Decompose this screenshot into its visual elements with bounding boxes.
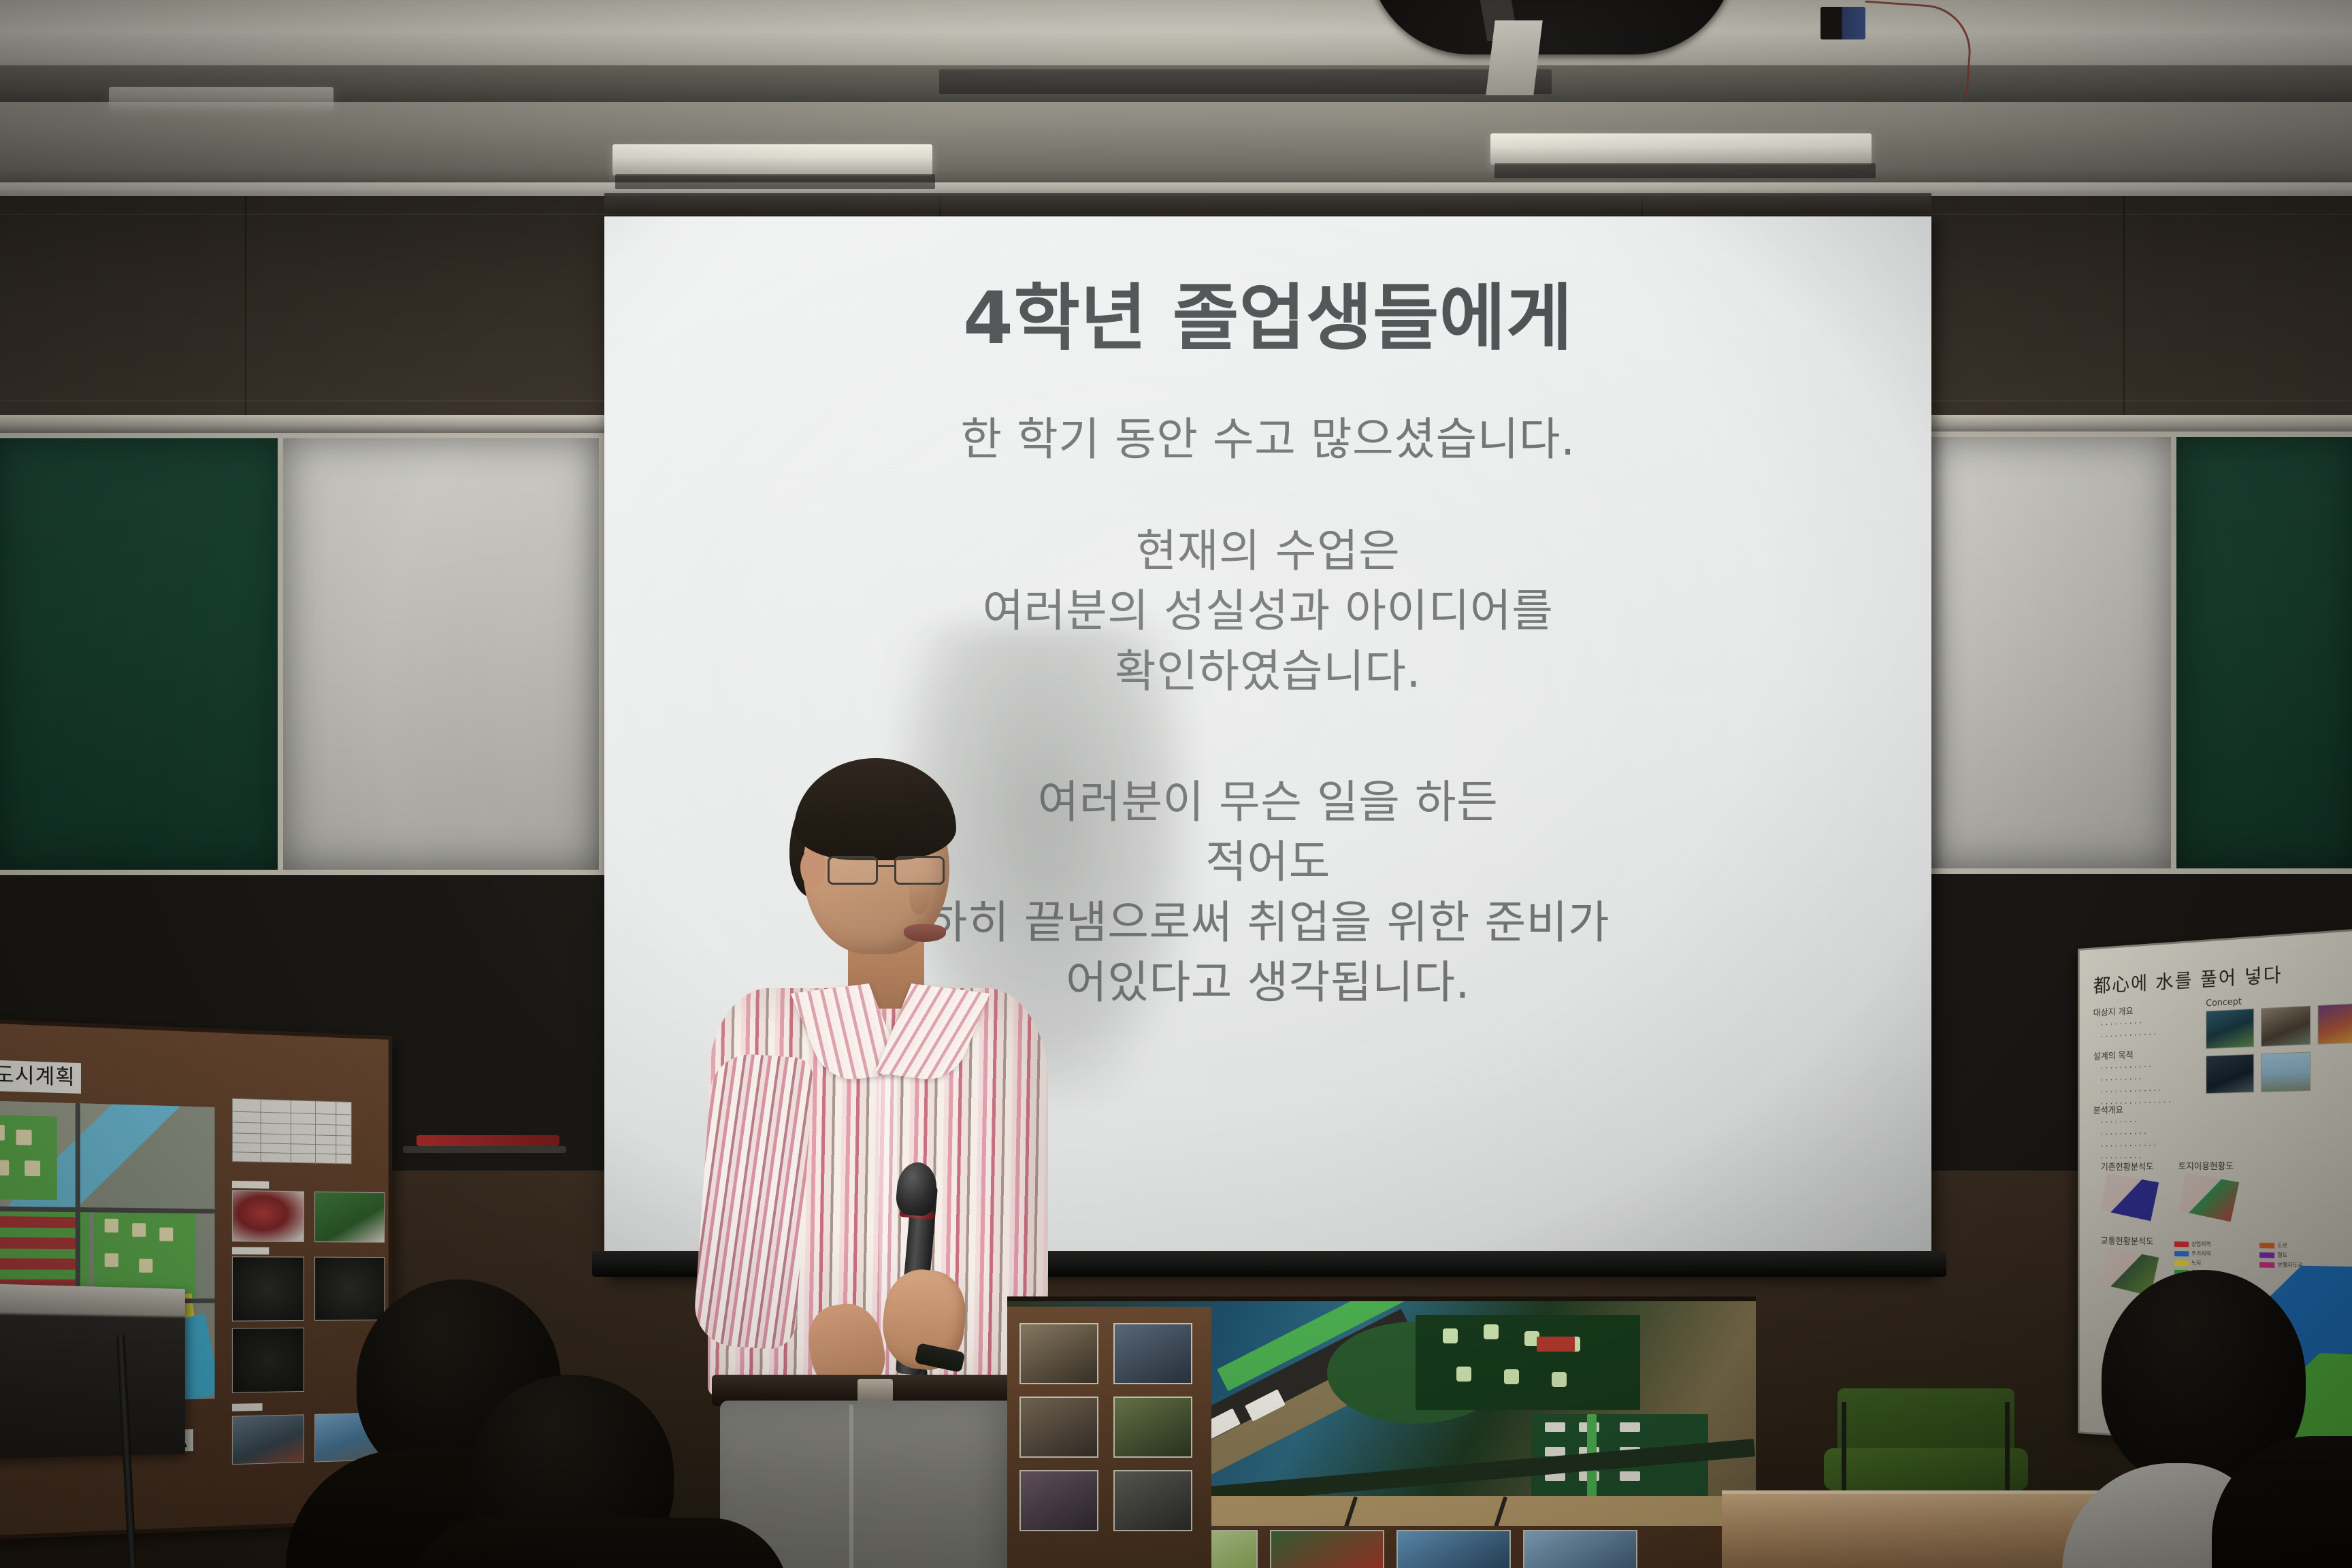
audience-shoulders: [408, 1518, 789, 1568]
legend-item: 철도: [2259, 1251, 2303, 1259]
legend-label: 주거지역: [2191, 1249, 2211, 1257]
screen-housing: [604, 193, 1931, 216]
poster-right-diagram: [2178, 1173, 2239, 1222]
poster-left-photo: [314, 1192, 385, 1243]
lectern: [0, 1284, 185, 1460]
poster-right-section: 교통현황분석도: [2101, 1234, 2154, 1247]
chair-seat: [1824, 1448, 2028, 1490]
glasses-bridge: [878, 865, 896, 867]
board-photo: [1019, 1323, 1098, 1384]
board-photo: [1396, 1530, 1511, 1568]
board-photo: [1113, 1470, 1192, 1531]
legend-swatch: [2259, 1252, 2274, 1258]
slide-line: 현재의 수업은: [983, 521, 1554, 581]
board-photo: [1113, 1396, 1192, 1458]
fluorescent-light: [612, 144, 932, 176]
poster-right-photo: [2206, 1054, 2254, 1094]
presenter-left-arm: [692, 1051, 815, 1350]
poster-right-photo: [2206, 1009, 2254, 1049]
glasses-icon: [828, 856, 951, 886]
presenter-hair: [794, 758, 956, 860]
glasses-lens-left: [828, 856, 878, 885]
legend-swatch: [2174, 1241, 2189, 1247]
board-photo: [1523, 1530, 1637, 1568]
slide-paragraph-1: 한 학기 동안 수고 많으셨습니다.: [960, 409, 1575, 470]
poster-right-section: Concept: [2206, 997, 2242, 1009]
marker-tray: [403, 1146, 566, 1153]
legend-swatch: [2259, 1243, 2274, 1248]
whiteboard-right: [1921, 431, 2179, 874]
legend-item: 도로: [2259, 1241, 2303, 1249]
poster-right-section: 기존현황분석도: [2101, 1160, 2154, 1173]
legend-label: 도로: [2277, 1241, 2287, 1249]
poster-left-title: 도시계획: [0, 1058, 81, 1094]
ceiling-beam: [0, 102, 2352, 191]
poster-left-caption: [232, 1403, 263, 1411]
legend-label: 철도: [2277, 1252, 2287, 1259]
slide-line: 여러분의 성실성과 아이디어를: [983, 581, 1554, 641]
fluorescent-light-shadow: [615, 174, 935, 189]
ceiling-rail: [939, 69, 1552, 94]
poster-right-photo: [2261, 1006, 2310, 1047]
legend-item: 주거지역: [2174, 1249, 2210, 1258]
poster-left-photo: [232, 1414, 304, 1465]
fluorescent-light-shadow: [1494, 163, 1876, 178]
poster-right-title: 都心에 水를 풀어 넣다: [2093, 960, 2283, 998]
desk: [1722, 1490, 2103, 1568]
ceiling-power-outlet: [1820, 7, 1865, 39]
legend-swatch: [2174, 1251, 2189, 1256]
marker-pen: [416, 1135, 559, 1146]
trouser-crease: [849, 1405, 853, 1568]
poster-left-photo: [232, 1190, 304, 1242]
poster-left-photo: [232, 1328, 304, 1393]
poster-right-section: 대상지 개요: [2093, 1004, 2134, 1019]
poster-right-diagram: [2101, 1173, 2159, 1221]
poster-left-data-table: [232, 1098, 352, 1164]
photo-canvas: 4학년 졸업생들에게 한 학기 동안 수고 많으셨습니다. 현재의 수업은 여러…: [0, 0, 2352, 1568]
presenter-mouth: [904, 924, 946, 942]
poster-left-photo: [232, 1256, 304, 1321]
poster-right-photo: [2261, 1051, 2310, 1092]
presenter-ear: [800, 849, 825, 887]
poster-right-section: 설계의 목적: [2093, 1048, 2134, 1062]
poster-right-photo: [2318, 1003, 2352, 1045]
legend-item: 상업지역: [2174, 1240, 2210, 1248]
poster-left-caption: [232, 1181, 269, 1189]
slide-block-2: 현재의 수업은 여러분의 성실성과 아이디어를 확인하였습니다.: [983, 521, 1554, 702]
cork-board-photos: [1007, 1307, 1211, 1568]
poster-right-section: 토지이용현황도: [2178, 1159, 2234, 1173]
poster-right-section: 분석개요: [2093, 1102, 2123, 1115]
board-photo: [1019, 1470, 1098, 1531]
urban-planning-board-left: 도시계획: [0, 1019, 392, 1540]
whiteboard-left: [278, 433, 604, 875]
board-photo: [1019, 1396, 1098, 1458]
projector-mount-bracket: [1486, 20, 1543, 95]
board-photo: [1113, 1323, 1192, 1384]
slide-title: 4학년 졸업생들에게: [963, 279, 1573, 359]
fluorescent-light: [109, 87, 333, 110]
board-photo: [1270, 1530, 1384, 1568]
legend-label: 상업지역: [2191, 1241, 2211, 1248]
slide-line: 확인하였습니다.: [983, 642, 1554, 702]
chalkboard-right: [2171, 431, 2352, 874]
poster-left-caption: [232, 1247, 269, 1254]
fluorescent-light: [1490, 133, 1872, 165]
belt-buckle-icon: [857, 1379, 893, 1402]
chalkboard-left: [0, 433, 289, 875]
poster-left-photo: [314, 1257, 385, 1321]
